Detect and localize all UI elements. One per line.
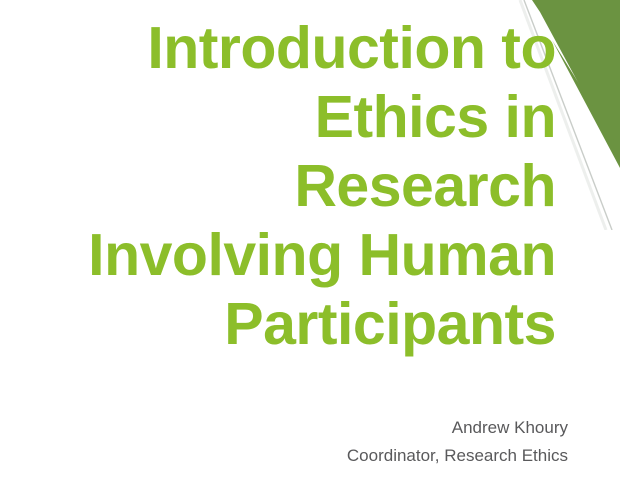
title-slide: Introduction to Ethics in Research Invol… [0, 0, 620, 495]
title-line-5: Participants [12, 290, 556, 359]
presenter-byline: Andrew Khoury Coordinator, Research Ethi… [12, 414, 568, 470]
green-wedge-lower-icon [552, 40, 620, 168]
title-line-2: Ethics in [12, 83, 556, 152]
presenter-role: Coordinator, Research Ethics [12, 442, 568, 470]
title-line-4: Involving Human [12, 221, 556, 290]
title-line-1: Introduction to [12, 14, 556, 83]
page-title: Introduction to Ethics in Research Invol… [12, 14, 556, 359]
presenter-name: Andrew Khoury [12, 414, 568, 442]
title-line-3: Research [12, 152, 556, 221]
